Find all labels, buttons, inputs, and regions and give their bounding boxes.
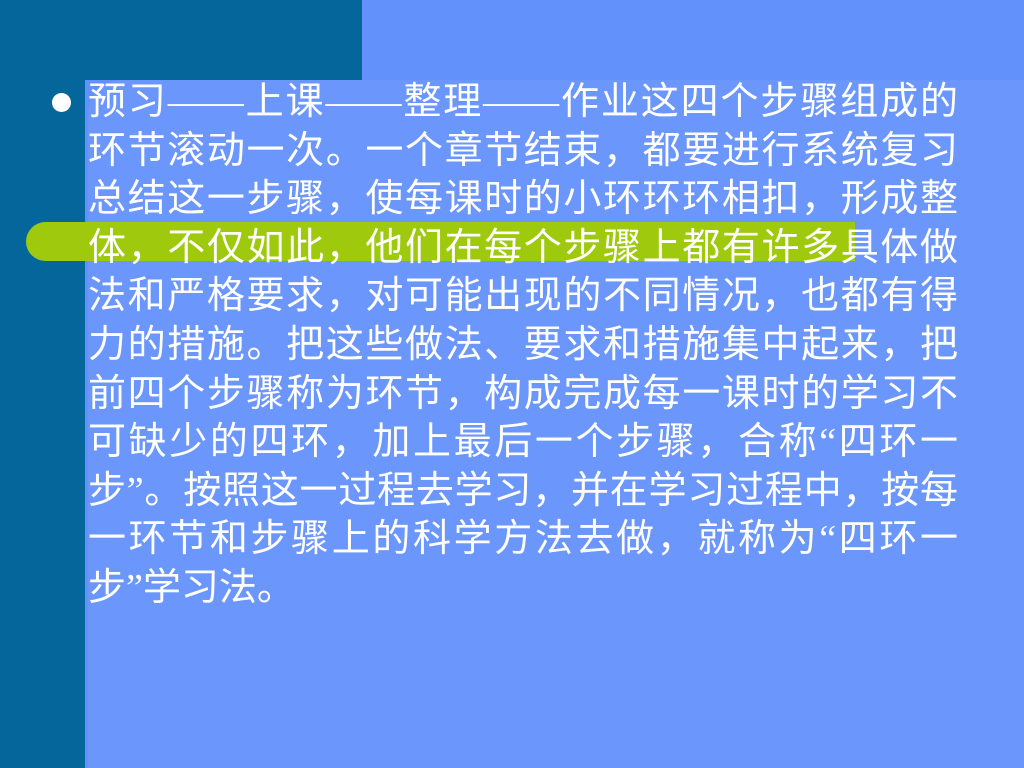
left-accent-band bbox=[0, 0, 85, 768]
slide-canvas: 预习——上课——整理——作业这四个步骤组成的环节滚动一次。一个章节结束，都要进行… bbox=[0, 0, 1024, 768]
bullet-point-marker bbox=[52, 93, 71, 112]
top-left-accent-block bbox=[0, 0, 362, 80]
slide-body-text: 预习——上课——整理——作业这四个步骤组成的环节滚动一次。一个章节结束，都要进行… bbox=[88, 78, 958, 613]
